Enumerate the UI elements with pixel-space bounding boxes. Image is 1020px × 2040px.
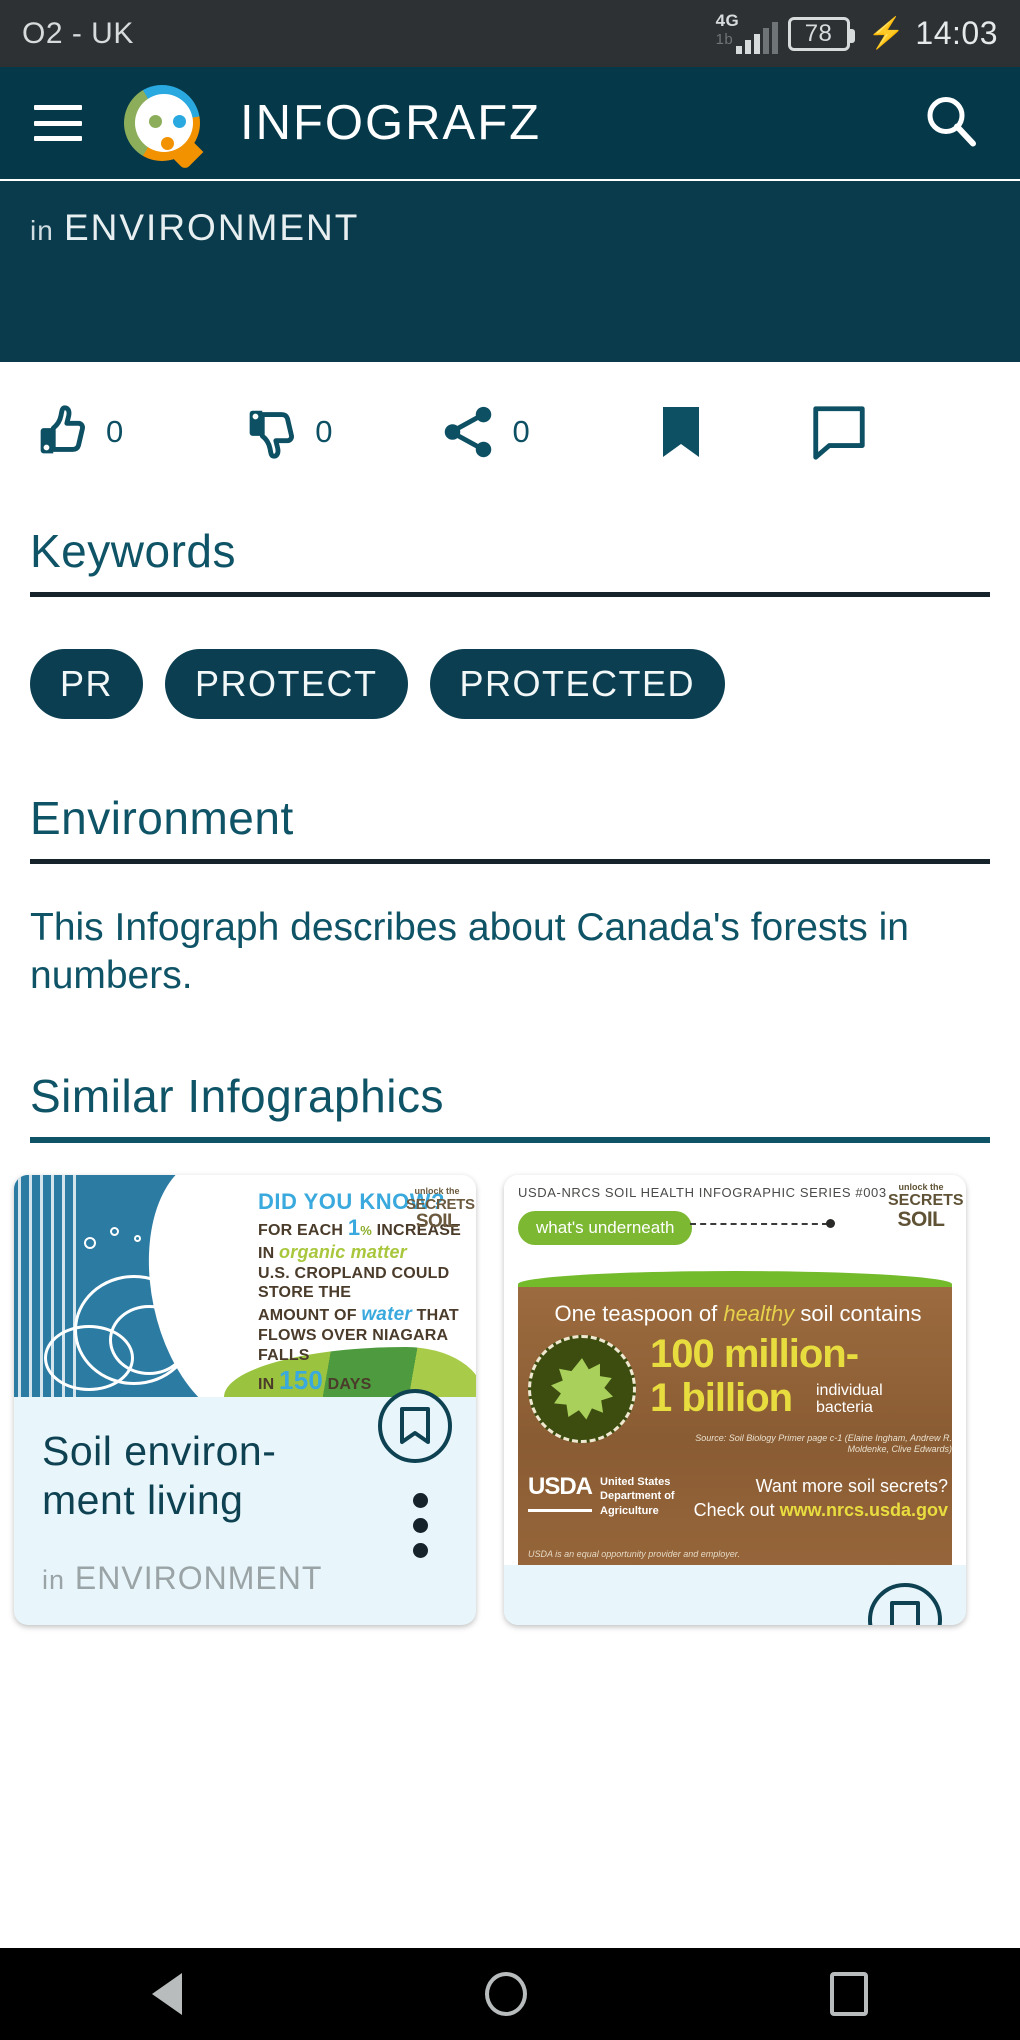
signal-strength-icon: 4G 1b: [716, 12, 778, 56]
similar-title: Similar Infographics: [30, 1069, 990, 1123]
environment-title: Environment: [30, 791, 990, 845]
soil-headline: One teaspoon of healthy soil contains: [524, 1301, 952, 1327]
share-icon: [437, 401, 499, 463]
bacteria-unit-label: individual bacteria: [816, 1383, 883, 1417]
usda-logo-icon: USDA United States Department of Agricul…: [528, 1475, 675, 1518]
like-count: 0: [106, 414, 123, 450]
thumb-line-6: IN 150 DAYS: [258, 1365, 468, 1397]
app-title: INFOGRAFZ: [240, 95, 541, 151]
battery-level-label: 78: [805, 20, 833, 48]
carrier-label: O2 - UK: [22, 17, 134, 51]
cta-line-1: Want more soil secrets?: [694, 1475, 948, 1498]
bacteria-count-line-2: 1 billion: [650, 1379, 792, 1418]
environment-divider: [30, 859, 990, 864]
connector-dot: [826, 1219, 835, 1228]
thumb-l1-pct: %: [360, 1223, 372, 1238]
usda-subtitle: United States Department of Agriculture: [600, 1475, 675, 1518]
thumb-l2-pre: IN: [258, 1245, 279, 1262]
thumb-line-5: FLOWS OVER NIAGARA FALLS: [258, 1326, 468, 1365]
similar-card-list: DID YOU KNOW? FOR EACH 1% INCREASE IN or…: [0, 1175, 1020, 1625]
hamburger-menu-icon[interactable]: [34, 105, 82, 141]
card-body: Soil environ- ment living in ENVIRONMENT: [14, 1397, 476, 1625]
card-thumbnail: DID YOU KNOW? FOR EACH 1% INCREASE IN or…: [14, 1175, 476, 1397]
share-button[interactable]: 0: [437, 401, 530, 463]
comment-button[interactable]: [808, 401, 870, 463]
clock-label: 14:03: [915, 15, 998, 52]
cta-l2-pre: Check out: [694, 1500, 780, 1520]
card-category: in ENVIRONMENT: [42, 1560, 448, 1597]
bookmark-outline-icon[interactable]: [378, 1389, 452, 1463]
category-name: ENVIRONMENT: [64, 207, 359, 248]
unit-l1: individual: [816, 1383, 883, 1400]
thumb-l4-pre: AMOUNT OF: [258, 1307, 361, 1324]
status-bar: O2 - UK 4G 1b 78 ⚡ 14:03: [0, 0, 1020, 67]
thumb-l4-em: water: [361, 1304, 412, 1325]
dislike-count: 0: [315, 414, 332, 450]
card-body: [504, 1565, 966, 1625]
bookmark-filled-icon: [652, 401, 710, 463]
usda-disclaimer: USDA is an equal opportunity provider an…: [528, 1549, 740, 1559]
app-bar: INFOGRAFZ: [0, 67, 1020, 179]
thumb-l2-em: organic matter: [279, 1242, 407, 1262]
keyword-chip-list: PR PROTECT PROTECTED: [30, 649, 990, 719]
similar-infographics-section: Similar Infographics: [0, 1069, 1020, 1143]
bacteria-count-line-1: 100 million-: [650, 1335, 858, 1374]
thumb-l6-num: 150: [279, 1365, 323, 1395]
category-banner: in ENVIRONMENT: [0, 179, 1020, 362]
keywords-divider: [30, 592, 990, 597]
secrets-of-soil-logo-icon: unlock the SECRETS SOIL: [406, 1187, 468, 1232]
dislike-button[interactable]: 0: [239, 401, 332, 463]
more-vertical-icon[interactable]: [413, 1493, 428, 1558]
share-count: 0: [513, 414, 530, 450]
like-button[interactable]: 0: [30, 401, 123, 463]
thumb-l1-pre: FOR EACH: [258, 1222, 348, 1239]
system-nav-bar: [0, 1948, 1020, 2040]
search-icon[interactable]: [922, 92, 980, 155]
status-bar-right: 4G 1b 78 ⚡ 14:03: [716, 12, 998, 56]
thumb-l6-post: DAYS: [323, 1376, 371, 1393]
card-thumbnail: USDA-NRCS SOIL HEALTH INFOGRAPHIC SERIES…: [504, 1175, 966, 1565]
keyword-chip[interactable]: PROTECTED: [430, 649, 726, 719]
cta-l2-link[interactable]: www.nrcs.usda.gov: [780, 1500, 948, 1520]
network-sub-label: 1b: [716, 32, 734, 47]
underneath-pill: what's underneath: [518, 1211, 692, 1245]
bookmark-button[interactable]: [652, 401, 710, 463]
similar-divider: [30, 1137, 990, 1143]
keyword-chip[interactable]: PROTECT: [165, 649, 408, 719]
charging-bolt-icon: ⚡: [868, 16, 906, 51]
signal-bars: [736, 24, 778, 54]
dashed-connector: [690, 1223, 828, 1225]
bacteria-icon: [528, 1335, 636, 1443]
environment-description: This Infograph describes about Canada's …: [30, 904, 990, 999]
category-in-label: in: [30, 215, 54, 246]
wave-illustration: [14, 1175, 252, 1397]
source-citation: Source: Soil Biology Primer page c-1 (El…: [664, 1433, 952, 1456]
usda-mark: USDA: [528, 1475, 592, 1512]
thumb-l1-num: 1: [348, 1215, 360, 1240]
soil-headline-post: soil contains: [794, 1301, 921, 1326]
recents-square-icon[interactable]: [830, 1972, 868, 2016]
soil-infographic-illustration: USDA-NRCS SOIL HEALTH INFOGRAPHIC SERIES…: [504, 1175, 966, 1565]
thumb-l4-post: THAT: [412, 1307, 459, 1324]
soil-cta: Want more soil secrets? Check out www.nr…: [694, 1475, 948, 1522]
category-line: in ENVIRONMENT: [30, 207, 990, 249]
comment-icon: [808, 401, 870, 463]
soil-headline-em: healthy: [723, 1301, 794, 1326]
secrets-of-soil-logo-icon: unlock the SECRETS SOIL: [888, 1183, 954, 1231]
back-triangle-icon[interactable]: [152, 1973, 182, 2015]
app-screen: O2 - UK 4G 1b 78 ⚡ 14:03 INF: [0, 0, 1020, 2040]
unit-l2: bacteria: [816, 1400, 883, 1417]
home-circle-icon[interactable]: [485, 1972, 527, 2016]
c2-logo-l3: SOIL: [888, 1209, 954, 1231]
action-bar: 0 0 0: [0, 362, 1020, 502]
infographic-card[interactable]: DID YOU KNOW? FOR EACH 1% INCREASE IN or…: [14, 1175, 476, 1625]
battery-icon: 78: [788, 17, 850, 51]
thumbs-up-icon: [30, 401, 92, 463]
thumb-line-2: IN organic matter: [258, 1242, 468, 1264]
keywords-section: Keywords PR PROTECT PROTECTED: [0, 524, 1020, 719]
c2-logo-l2: SECRETS: [888, 1193, 954, 1210]
card-category-name: ENVIRONMENT: [75, 1560, 322, 1596]
soil-logo-l3: SOIL: [406, 1212, 468, 1232]
keywords-title: Keywords: [30, 524, 990, 578]
soil-logo-l2: SECRETS: [406, 1197, 468, 1213]
keyword-chip[interactable]: PR: [30, 649, 143, 719]
thumb-l6-pre: IN: [258, 1376, 279, 1393]
thumb-line-3: U.S. CROPLAND COULD STORE THE: [258, 1264, 468, 1303]
cta-line-2: Check out www.nrcs.usda.gov: [694, 1499, 948, 1522]
bookmark-outline-icon[interactable]: [868, 1583, 942, 1625]
thumbs-down-icon: [239, 401, 301, 463]
infografz-logo-icon: [124, 85, 200, 161]
environment-section: Environment This Infograph describes abo…: [0, 791, 1020, 999]
soil-headline-pre: One teaspoon of: [555, 1301, 724, 1326]
thumb-line-4: AMOUNT OF water THAT: [258, 1303, 468, 1326]
infographic-card[interactable]: USDA-NRCS SOIL HEALTH INFOGRAPHIC SERIES…: [504, 1175, 966, 1625]
card-in-label: in: [42, 1565, 65, 1595]
series-label: USDA-NRCS SOIL HEALTH INFOGRAPHIC SERIES…: [518, 1185, 887, 1200]
